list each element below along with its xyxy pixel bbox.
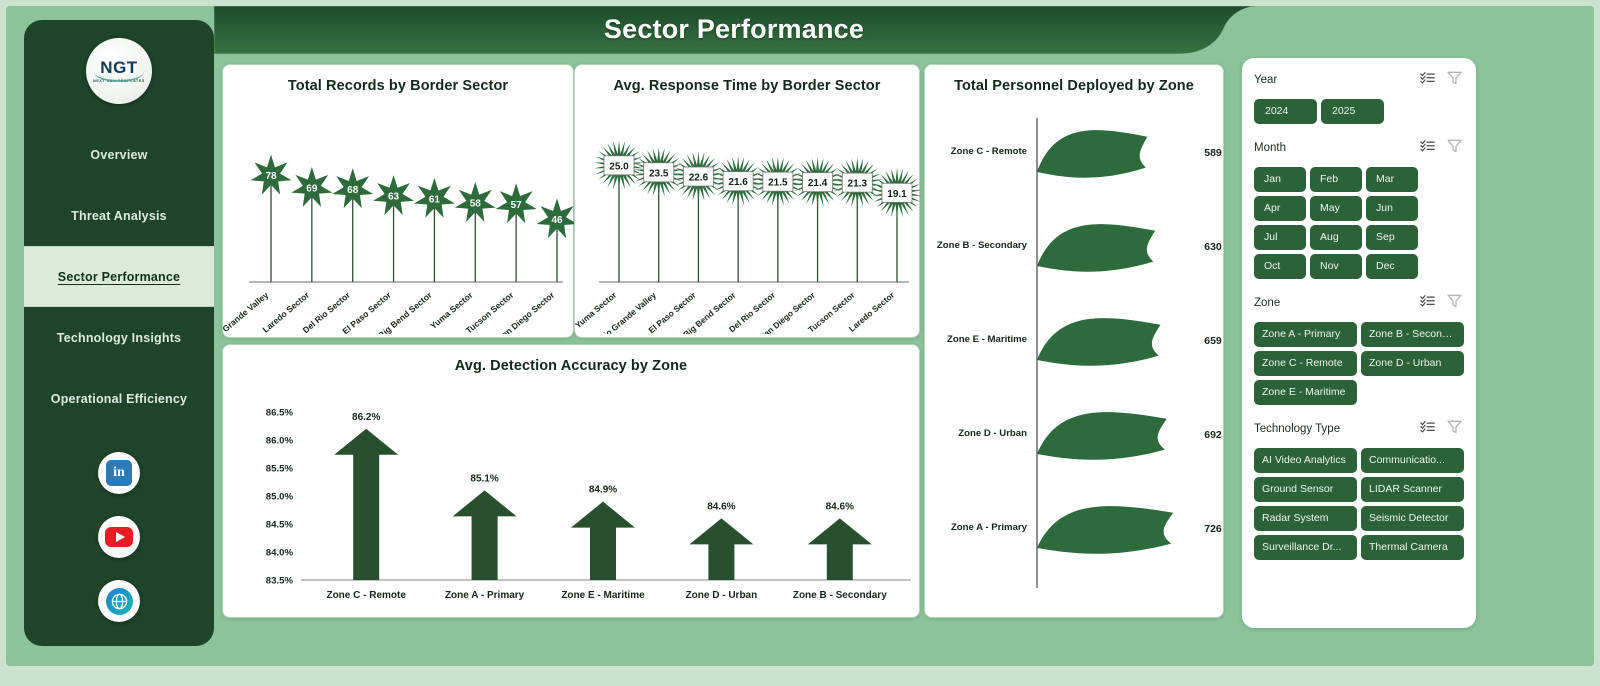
svg-text:84.5%: 84.5% xyxy=(266,520,294,531)
chart-records: 7869686361585746Rio Grande ValleyLaredo … xyxy=(223,94,575,334)
svg-text:25.0: 25.0 xyxy=(609,161,629,172)
sidebar-item-operational-efficiency[interactable]: Operational Efficiency xyxy=(24,368,214,429)
filter-chip[interactable]: Aug xyxy=(1310,225,1362,250)
filter-chip[interactable]: Zone B - Second... xyxy=(1361,322,1464,347)
filter-chip[interactable]: LIDAR Scanner xyxy=(1361,477,1464,502)
filter-chip[interactable]: Jul xyxy=(1254,225,1306,250)
chart-title-response: Avg. Response Time by Border Sector xyxy=(575,65,919,94)
svg-text:Zone E - Maritime: Zone E - Maritime xyxy=(947,334,1027,345)
svg-text:Zone E - Maritime: Zone E - Maritime xyxy=(561,590,645,601)
svg-text:630: 630 xyxy=(1204,241,1222,253)
linkedin-button[interactable]: in xyxy=(98,452,140,494)
filter-chip[interactable]: Seismic Detector xyxy=(1361,506,1464,531)
svg-text:692: 692 xyxy=(1204,429,1222,441)
multi-select-icon[interactable] xyxy=(1420,71,1435,89)
filter-chip[interactable]: Jan xyxy=(1254,167,1306,192)
svg-text:85.0%: 85.0% xyxy=(266,492,294,503)
svg-text:Zone A - Primary: Zone A - Primary xyxy=(951,522,1028,533)
svg-text:Zone C - Remote: Zone C - Remote xyxy=(326,590,406,601)
filter-chip[interactable]: Dec xyxy=(1366,254,1418,279)
filter-chip[interactable]: 2024 xyxy=(1254,99,1317,124)
multi-select-icon[interactable] xyxy=(1420,139,1435,157)
svg-text:21.3: 21.3 xyxy=(848,179,868,190)
card-detection-accuracy: Avg. Detection Accuracy by Zone 83.5%84.… xyxy=(222,344,920,618)
svg-text:659: 659 xyxy=(1204,335,1222,347)
clear-filter-icon[interactable] xyxy=(1447,71,1462,90)
svg-text:84.6%: 84.6% xyxy=(707,501,735,512)
filter-chips-technology-type: AI Video Analytics Communicatio... Groun… xyxy=(1254,448,1464,560)
chart-title-accuracy: Avg. Detection Accuracy by Zone xyxy=(223,345,919,374)
svg-text:58: 58 xyxy=(470,199,482,210)
website-button[interactable] xyxy=(98,580,140,622)
filter-chip[interactable]: Radar System xyxy=(1254,506,1357,531)
filter-header-technology-type: Technology Type xyxy=(1254,419,1464,439)
filter-chip[interactable]: May xyxy=(1310,196,1362,221)
filter-chip[interactable]: AI Video Analytics xyxy=(1254,448,1357,473)
filter-chip[interactable]: Zone E - Maritime xyxy=(1254,380,1357,405)
social-links: in xyxy=(24,452,214,622)
clear-filter-icon[interactable] xyxy=(1447,420,1462,439)
chart-title-personnel: Total Personnel Deployed by Zone xyxy=(925,65,1223,94)
svg-text:Zone B - Secondary: Zone B - Secondary xyxy=(793,590,887,601)
sidebar-item-label: Operational Efficiency xyxy=(51,392,187,406)
sidebar-item-label: Technology Insights xyxy=(57,331,181,345)
svg-text:726: 726 xyxy=(1204,523,1222,535)
svg-text:69: 69 xyxy=(306,184,318,195)
filter-chips-zone: Zone A - Primary Zone B - Second... Zone… xyxy=(1254,322,1464,405)
svg-text:85.5%: 85.5% xyxy=(266,464,294,475)
svg-text:Zone C - Remote: Zone C - Remote xyxy=(951,146,1027,157)
svg-text:78: 78 xyxy=(265,171,277,182)
clear-filter-icon[interactable] xyxy=(1447,294,1462,313)
svg-text:63: 63 xyxy=(388,192,400,203)
filter-header-year: Year xyxy=(1254,70,1464,90)
app-logo: NGT NEXT GEN TEMPLATES xyxy=(86,38,152,104)
sidebar-nav: Overview Threat Analysis Sector Performa… xyxy=(24,124,214,429)
sidebar: NGT NEXT GEN TEMPLATES Overview Threat A… xyxy=(24,20,214,646)
filter-chip[interactable]: Zone C - Remote xyxy=(1254,351,1357,376)
filter-chip[interactable]: Surveillance Dr... xyxy=(1254,535,1357,560)
clear-filter-icon[interactable] xyxy=(1447,139,1462,158)
filter-chip[interactable]: Thermal Camera xyxy=(1361,535,1464,560)
chart-personnel: Zone C - Remote589Zone B - Secondary630Z… xyxy=(925,94,1225,614)
svg-text:Zone D - Urban: Zone D - Urban xyxy=(958,428,1027,439)
page-title: Sector Performance xyxy=(214,14,1254,45)
filter-chip[interactable]: Zone D - Urban xyxy=(1361,351,1464,376)
filter-chip[interactable]: Zone A - Primary xyxy=(1254,322,1357,347)
dashboard-canvas: Sector Performance NGT NEXT GEN TEMPLATE… xyxy=(6,6,1594,666)
chart-accuracy: 83.5%84.0%84.5%85.0%85.5%86.0%86.5%86.2%… xyxy=(223,374,921,618)
filter-group-month: Month Jan Feb Mar Apr May Jun Jul xyxy=(1254,138,1464,279)
globe-icon xyxy=(106,588,133,615)
sidebar-item-threat-analysis[interactable]: Threat Analysis xyxy=(24,185,214,246)
svg-text:Zone B - Secondary: Zone B - Secondary xyxy=(937,240,1028,251)
sidebar-item-sector-performance[interactable]: Sector Performance xyxy=(24,246,214,307)
filter-chip[interactable]: Jun xyxy=(1366,196,1418,221)
filter-panel: Year 2024 2025 Month xyxy=(1242,58,1476,628)
svg-text:86.5%: 86.5% xyxy=(266,408,294,419)
svg-text:84.9%: 84.9% xyxy=(589,485,617,496)
filter-chip[interactable]: Mar xyxy=(1366,167,1418,192)
svg-text:23.5: 23.5 xyxy=(649,168,669,179)
svg-text:Zone D - Urban: Zone D - Urban xyxy=(686,590,758,601)
svg-text:61: 61 xyxy=(429,194,441,205)
dashboard-root: Sector Performance NGT NEXT GEN TEMPLATE… xyxy=(0,0,1600,686)
svg-text:84.0%: 84.0% xyxy=(266,548,294,559)
sidebar-item-label: Sector Performance xyxy=(58,270,180,284)
filter-chip[interactable]: Sep xyxy=(1366,225,1418,250)
svg-text:19.1: 19.1 xyxy=(887,189,907,200)
chart-response: 25.023.522.621.621.521.421.319.1Yuma Sec… xyxy=(575,94,921,334)
filter-chip[interactable]: Feb xyxy=(1310,167,1362,192)
filter-group-technology-type: Technology Type AI Video Analytics Commu… xyxy=(1254,419,1464,560)
svg-text:Zone A - Primary: Zone A - Primary xyxy=(445,590,525,601)
sidebar-item-overview[interactable]: Overview xyxy=(24,124,214,185)
filter-label-technology-type: Technology Type xyxy=(1254,423,1420,435)
svg-text:21.6: 21.6 xyxy=(728,177,748,188)
sidebar-item-label: Threat Analysis xyxy=(71,209,167,223)
svg-text:21.4: 21.4 xyxy=(808,178,828,189)
svg-text:57: 57 xyxy=(511,200,523,211)
svg-text:83.5%: 83.5% xyxy=(266,576,294,587)
filter-chip[interactable]: Ground Sensor xyxy=(1254,477,1357,502)
youtube-icon xyxy=(105,527,133,547)
filter-group-year: Year 2024 2025 xyxy=(1254,70,1464,124)
multi-select-icon[interactable] xyxy=(1420,420,1435,438)
linkedin-icon: in xyxy=(106,460,132,486)
card-response-time: Avg. Response Time by Border Sector 25.0… xyxy=(574,64,920,338)
filter-header-zone: Zone xyxy=(1254,293,1464,313)
youtube-button[interactable] xyxy=(98,516,140,558)
filter-chips-month: Jan Feb Mar Apr May Jun Jul Aug Sep Oct … xyxy=(1254,167,1464,279)
filter-label-month: Month xyxy=(1254,142,1420,154)
multi-select-icon[interactable] xyxy=(1420,294,1435,312)
svg-text:68: 68 xyxy=(347,185,359,196)
chart-title-records: Total Records by Border Sector xyxy=(223,65,573,94)
svg-text:86.2%: 86.2% xyxy=(352,412,380,423)
svg-text:21.5: 21.5 xyxy=(768,178,788,189)
filter-chip[interactable]: Oct xyxy=(1254,254,1306,279)
filter-chips-year: 2024 2025 xyxy=(1254,99,1464,124)
filter-group-zone: Zone Zone A - Primary Zone B - Second...… xyxy=(1254,293,1464,405)
filter-chip[interactable]: 2025 xyxy=(1321,99,1384,124)
svg-text:85.1%: 85.1% xyxy=(470,473,498,484)
filter-label-year: Year xyxy=(1254,74,1420,86)
filter-label-zone: Zone xyxy=(1254,297,1420,309)
svg-text:589: 589 xyxy=(1204,147,1222,159)
filter-header-month: Month xyxy=(1254,138,1464,158)
sidebar-item-label: Overview xyxy=(90,148,147,162)
card-personnel: Total Personnel Deployed by Zone Zone C … xyxy=(924,64,1224,618)
filter-chip[interactable]: Apr xyxy=(1254,196,1306,221)
filter-chip[interactable]: Communicatio... xyxy=(1361,448,1464,473)
filter-chip[interactable]: Nov xyxy=(1310,254,1362,279)
header-banner: Sector Performance xyxy=(214,6,1594,58)
svg-text:22.6: 22.6 xyxy=(689,173,709,184)
svg-text:86.0%: 86.0% xyxy=(266,436,294,447)
sidebar-item-technology-insights[interactable]: Technology Insights xyxy=(24,307,214,368)
svg-text:84.6%: 84.6% xyxy=(826,501,854,512)
svg-text:46: 46 xyxy=(551,215,563,226)
card-total-records: Total Records by Border Sector 786968636… xyxy=(222,64,574,338)
